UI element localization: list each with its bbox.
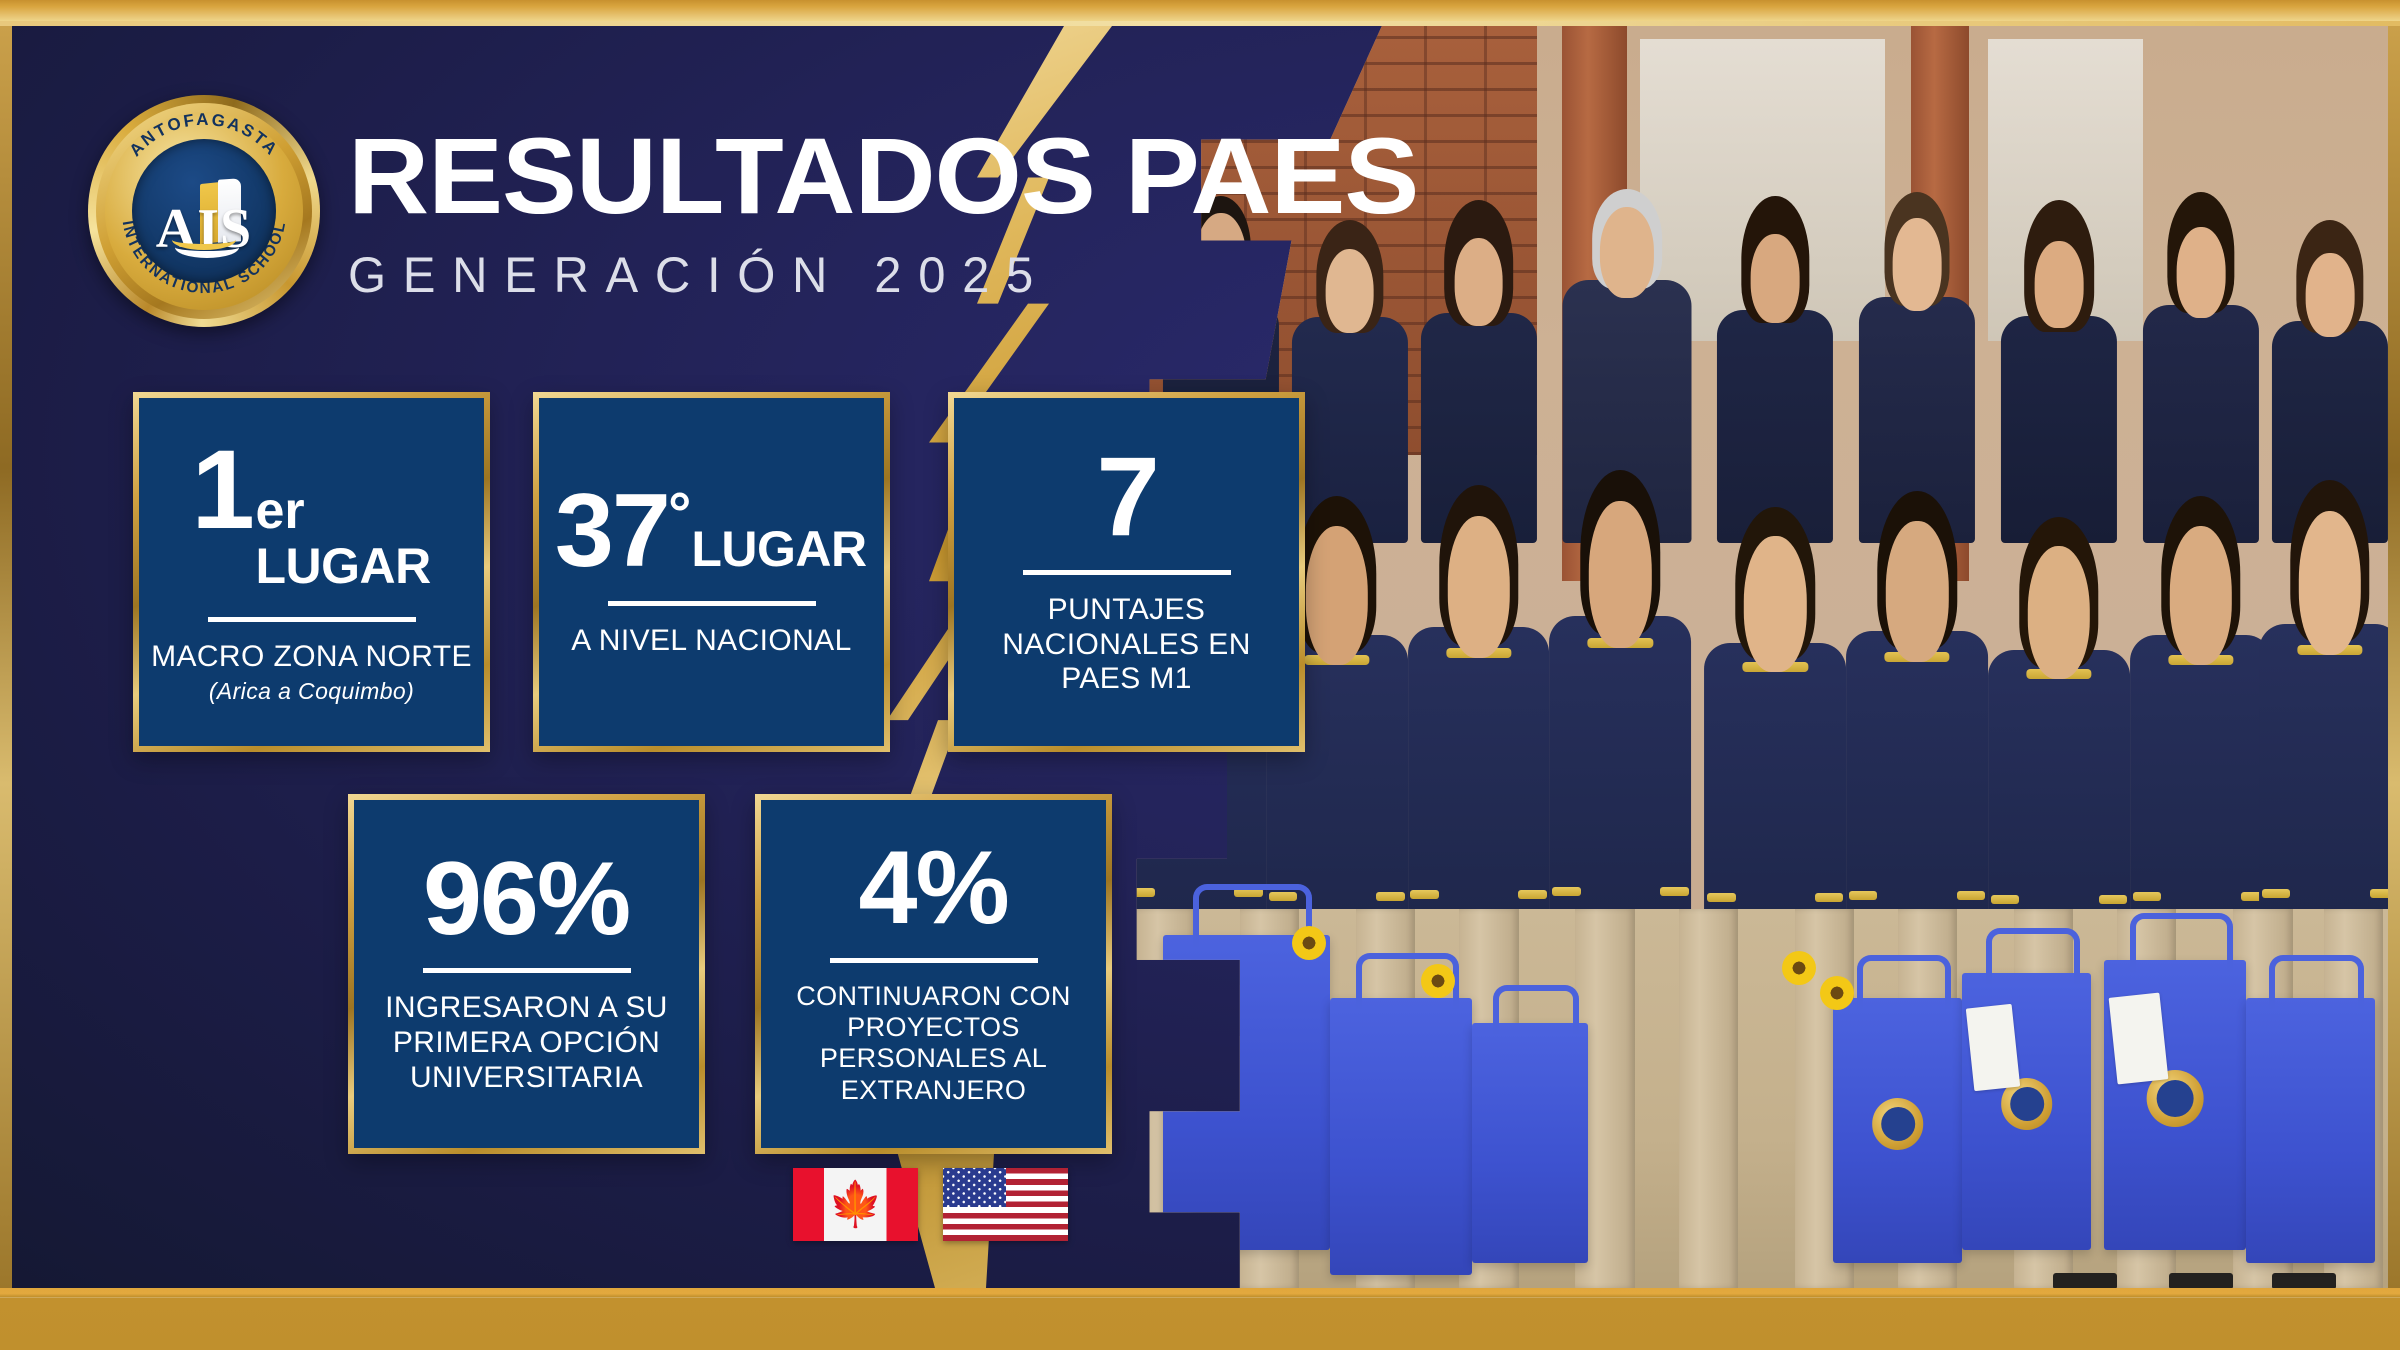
stat-caption: A NIVEL NACIONAL bbox=[571, 624, 851, 659]
school-logo: ANTOFAGASTA INTERNATIONAL SCHOOL AIS bbox=[88, 95, 320, 327]
stat-value-group: 96% bbox=[425, 853, 627, 947]
stat-number: 7 bbox=[1096, 447, 1156, 548]
sunflower-icon bbox=[1292, 926, 1326, 960]
stat-caption: INGRESARON A SU PRIMERA OPCIÓN UNIVERSIT… bbox=[364, 991, 689, 1095]
country-flags: 🍁 bbox=[793, 1168, 1068, 1241]
stat-caption-text: MACRO ZONA NORTE bbox=[151, 640, 472, 673]
bottom-gold-band bbox=[0, 1288, 2400, 1350]
person-student bbox=[1846, 375, 1988, 985]
person-student bbox=[2259, 362, 2388, 985]
page-title: RESULTADOS PAES bbox=[348, 124, 1418, 228]
stat-caption: CONTINUARON CON PROYECTOS PERSONALES AL … bbox=[771, 981, 1096, 1106]
tote-bag bbox=[2246, 998, 2375, 1263]
stat-caption: MACRO ZONA NORTE (Arica a Coquimbo) bbox=[151, 640, 472, 704]
divider bbox=[208, 617, 416, 622]
stat-number: 37 bbox=[555, 485, 669, 579]
divider bbox=[1023, 570, 1231, 575]
stat-value-group: 1 er LUGAR bbox=[192, 440, 431, 595]
person-student bbox=[1550, 349, 1692, 986]
tote-bag bbox=[1833, 998, 1962, 1263]
stat-suffix: ° bbox=[668, 485, 691, 543]
tote-bag bbox=[2104, 960, 2246, 1250]
left-gold-edge bbox=[0, 26, 12, 1288]
stat-card-primera-opcion[interactable]: 96% INGRESARON A SU PRIMERA OPCIÓN UNIVE… bbox=[348, 794, 705, 1154]
stat-value-group: 37 ° LUGAR bbox=[556, 485, 866, 579]
tote-bag bbox=[1472, 1023, 1588, 1263]
maple-leaf-icon: 🍁 bbox=[828, 1183, 883, 1227]
stat-suffix: er bbox=[256, 485, 305, 537]
stat-number: 1 bbox=[192, 440, 252, 541]
usa-flag-icon bbox=[943, 1168, 1068, 1241]
stat-unit: LUGAR bbox=[256, 537, 431, 595]
sunflower-icon bbox=[1421, 964, 1455, 998]
person-student bbox=[1704, 395, 1846, 986]
usa-flag-union bbox=[943, 1168, 1006, 1207]
divider bbox=[830, 958, 1038, 963]
stat-card-puntajes-nacionales[interactable]: 7 PUNTAJES NACIONALES EN PAES M1 bbox=[948, 392, 1305, 752]
divider bbox=[608, 601, 816, 606]
stat-unit: LUGAR bbox=[691, 520, 866, 578]
poster-canvas: ANTOFAGASTA INTERNATIONAL SCHOOL AIS RES… bbox=[0, 0, 2400, 1350]
stat-value-group: 4% bbox=[860, 842, 1006, 936]
stat-number: 4% bbox=[859, 842, 1008, 936]
page-heading: RESULTADOS PAES GENERACIÓN 2025 bbox=[348, 124, 1377, 304]
divider bbox=[423, 968, 631, 973]
stat-caption: PUNTAJES NACIONALES EN PAES M1 bbox=[964, 593, 1289, 697]
stat-value-group: 7 bbox=[1097, 447, 1156, 548]
tote-bag bbox=[1962, 973, 2091, 1251]
stat-card-nivel-nacional[interactable]: 37 ° LUGAR A NIVEL NACIONAL bbox=[533, 392, 890, 752]
stat-number: 96% bbox=[423, 853, 629, 947]
person-student bbox=[1408, 368, 1550, 985]
person-student bbox=[1988, 408, 2130, 985]
canada-flag-icon: 🍁 bbox=[793, 1168, 918, 1241]
tote-bag bbox=[1330, 998, 1472, 1276]
stat-card-macro-zona-norte[interactable]: 1 er LUGAR MACRO ZONA NORTE (Arica a Coq… bbox=[133, 392, 490, 752]
stat-card-proyectos-extranjero[interactable]: 4% CONTINUARON CON PROYECTOS PERSONALES … bbox=[755, 794, 1112, 1154]
page-subtitle: GENERACIÓN 2025 bbox=[348, 246, 1357, 304]
top-gold-band bbox=[0, 0, 2400, 26]
person-student bbox=[2130, 381, 2272, 985]
sunflower-icon bbox=[1782, 951, 1816, 985]
stat-note: (Arica a Coquimbo) bbox=[151, 678, 472, 705]
right-gold-edge bbox=[2388, 26, 2400, 1288]
